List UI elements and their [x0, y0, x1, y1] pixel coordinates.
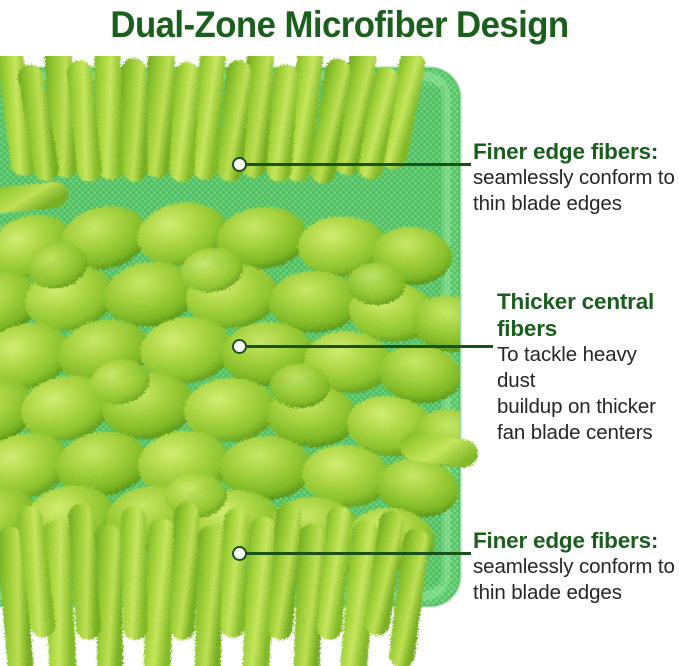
callout-bottom-body-line-2: thin blade edges: [473, 580, 679, 606]
callout-middle-marker[interactable]: [232, 339, 247, 354]
callout-middle-body-line-2: buildup on thicker: [497, 394, 679, 420]
callout-top-body-line-1: seamlessly conform to: [473, 165, 679, 191]
callout-bottom-body-line-1: seamlessly conform to: [473, 554, 679, 580]
callout-middle-body-line-3: fan blade centers: [497, 420, 679, 446]
infographic-page: Dual-Zone Microfiber Design: [0, 0, 679, 666]
product-photo-microfiber-duster: [0, 56, 480, 666]
callout-middle-heading-line-2: fibers: [497, 315, 679, 342]
callout-middle-text: Thicker central fibers To tackle heavy d…: [497, 288, 679, 446]
edge-fibers-top: [0, 56, 427, 185]
callout-middle-leader-line: [245, 345, 493, 348]
callout-bottom-heading: Finer edge fibers:: [473, 527, 679, 554]
callout-bottom-leader-line: [245, 552, 471, 555]
callout-bottom-text: Finer edge fibers: seamlessly conform to…: [473, 527, 679, 606]
callout-top-text: Finer edge fibers: seamlessly conform to…: [473, 138, 679, 217]
page-title: Dual-Zone Microfiber Design: [20, 2, 658, 48]
callout-top-body-line-2: thin blade edges: [473, 191, 679, 217]
callout-middle-heading-line-1: Thicker central: [497, 288, 679, 315]
callout-top-leader-line: [245, 163, 471, 166]
callout-middle-body-line-1: To tackle heavy dust: [497, 342, 679, 394]
callout-top-marker[interactable]: [232, 157, 247, 172]
callout-top-heading: Finer edge fibers:: [473, 138, 679, 165]
callout-bottom-marker[interactable]: [232, 546, 247, 561]
